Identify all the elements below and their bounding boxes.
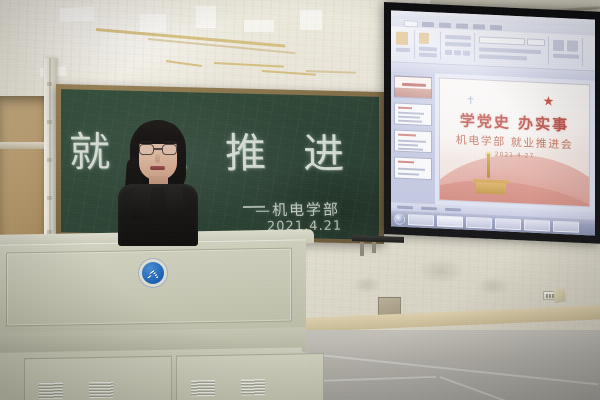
projection-screen[interactable]: ✝ ★ 学党史 办实事 机电学部 就业推进会 2021.4.27	[391, 10, 595, 235]
slide-counter	[397, 205, 413, 209]
tape-residue-patch	[244, 20, 274, 32]
lectern-front-panel	[0, 239, 306, 336]
taskbar-item[interactable]	[408, 214, 434, 226]
slide-thumbnail[interactable]	[394, 129, 432, 153]
dove-icon: ✝	[466, 96, 482, 107]
vent-louver	[191, 380, 215, 396]
clipboard-options[interactable]	[396, 48, 410, 53]
new-slide-icon[interactable]	[419, 33, 429, 44]
slide-thumbnail-pane[interactable]	[391, 71, 435, 204]
underline-icon[interactable]	[463, 51, 470, 56]
taskbar-item[interactable]	[437, 215, 463, 227]
floor-tile-seam	[316, 376, 436, 382]
lens	[139, 144, 154, 155]
tape-residue-patch	[300, 10, 322, 30]
wall-stain	[352, 276, 382, 294]
tape-residue-patch	[60, 7, 94, 22]
classroom-photo: 就 业 推 进 会 —机电学部 2021.4.21	[0, 0, 600, 400]
replace-icon[interactable]	[567, 40, 578, 51]
slide-thumbnail[interactable]	[394, 102, 432, 126]
tiananmen-graphic	[476, 153, 506, 194]
tape-residue-patch	[196, 6, 216, 28]
speaker	[116, 116, 200, 244]
reset-button[interactable]	[419, 53, 437, 58]
vent-louver	[39, 383, 63, 399]
taskbar-item[interactable]	[495, 218, 521, 230]
wall-stain	[418, 258, 464, 284]
cabinet-door[interactable]	[176, 353, 324, 400]
party-emblem-icon: ★	[542, 95, 555, 108]
eyebrow	[165, 141, 177, 143]
lectern	[0, 229, 314, 400]
language-indicator[interactable]	[445, 207, 461, 211]
lens	[162, 144, 177, 155]
ribbon-tab-file[interactable]	[405, 20, 417, 26]
slide-thumbnail[interactable]	[394, 156, 432, 180]
taskbar-item[interactable]	[466, 216, 492, 228]
lectern-cabinet	[0, 347, 302, 400]
wall-stain	[476, 276, 510, 296]
vent-louver	[241, 379, 265, 395]
chalk-tray-hook	[360, 242, 364, 256]
find-icon[interactable]	[553, 40, 564, 51]
active-slide[interactable]: ✝ ★ 学党史 办实事 机电学部 就业推进会 2021.4.27	[439, 77, 590, 207]
ribbon-tab-home[interactable]	[422, 21, 434, 27]
vent-louver	[89, 382, 113, 398]
outlet-card	[553, 288, 566, 301]
bold-icon[interactable]	[445, 50, 452, 55]
blackboard-attribution: —机电学部	[255, 198, 341, 220]
taskbar-item[interactable]	[524, 219, 550, 231]
ribbon-tab-insert[interactable]	[439, 22, 451, 28]
cabinet-door[interactable]	[24, 356, 172, 400]
ribbon-tab-transitions[interactable]	[473, 24, 485, 30]
start-button[interactable]	[394, 213, 405, 224]
blackboard-surface: 就 业 推 进 会 —机电学部 2021.4.21	[61, 89, 379, 240]
projection-screen-frame: ✝ ★ 学党史 办实事 机电学部 就业推进会 2021.4.27	[384, 2, 600, 244]
blackboard-frame: 就 业 推 进 会 —机电学部 2021.4.21	[56, 84, 384, 244]
nose	[155, 154, 160, 163]
eyebrow	[140, 141, 152, 143]
slide-thumbnail[interactable]	[394, 75, 432, 99]
taskbar-item[interactable]	[553, 220, 579, 232]
glasses-bridge	[154, 148, 162, 150]
quick-styles[interactable]	[527, 38, 545, 46]
university-emblem	[138, 258, 168, 288]
chalk-tray-hook	[372, 242, 376, 253]
tape-residue-patch	[140, 14, 166, 32]
ribbon-tab-design[interactable]	[456, 23, 468, 29]
ribbon-tab-animations[interactable]	[490, 24, 502, 30]
emblem-disc	[142, 262, 164, 284]
italic-icon[interactable]	[454, 50, 461, 55]
paste-icon[interactable]	[396, 32, 408, 46]
mouth	[150, 166, 165, 170]
theme-name	[421, 206, 437, 210]
layout-dropdown[interactable]	[419, 47, 437, 52]
